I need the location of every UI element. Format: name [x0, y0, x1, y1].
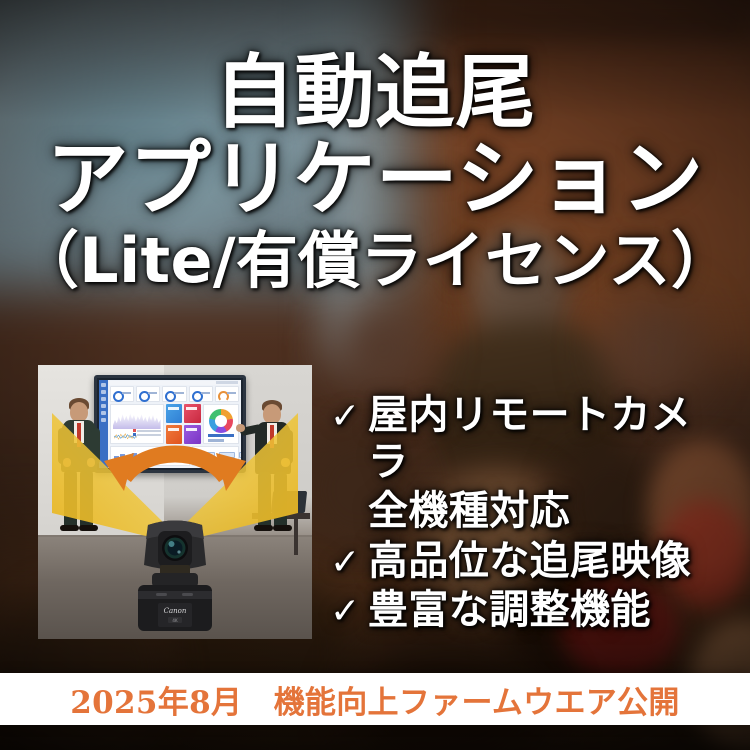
feature-item-continuation: 全機種対応	[330, 488, 730, 535]
check-icon: ✓	[330, 399, 368, 435]
announcement-banner: 2025年8月 機能向上ファームウエア公開	[0, 673, 750, 725]
svg-text:Canon: Canon	[164, 607, 187, 615]
feature-text: 全機種対応	[368, 488, 570, 535]
check-icon: ✓	[330, 594, 368, 630]
announcement-text: 2025年8月 機能向上ファームウエア公開	[70, 677, 679, 722]
feature-item: ✓ 高品位な追尾映像	[330, 538, 730, 585]
feature-text: 屋内リモートカメラ	[368, 392, 730, 486]
feature-list: ✓ 屋内リモートカメラ 全機種対応 ✓ 高品位な追尾映像 ✓ 豊富な調整機能	[330, 392, 730, 636]
product-illustration: Canon 4K	[38, 365, 312, 639]
background-audience-blob	[605, 300, 701, 398]
background-projection-glow	[10, 40, 340, 240]
feature-text: 高品位な追尾映像	[368, 538, 691, 585]
ptz-camera: Canon 4K	[130, 517, 220, 635]
feature-text: 豊富な調整機能	[368, 587, 651, 634]
check-icon: ✓	[330, 545, 368, 581]
svg-text:4K: 4K	[172, 618, 178, 623]
background-audience-blob	[336, 300, 428, 396]
feature-item: ✓ 豊富な調整機能	[330, 587, 730, 634]
promo-poster: 自動追尾 アプリケーション （Lite/有償ライセンス）	[0, 0, 750, 750]
feature-item: ✓ 屋内リモートカメラ	[330, 392, 730, 486]
